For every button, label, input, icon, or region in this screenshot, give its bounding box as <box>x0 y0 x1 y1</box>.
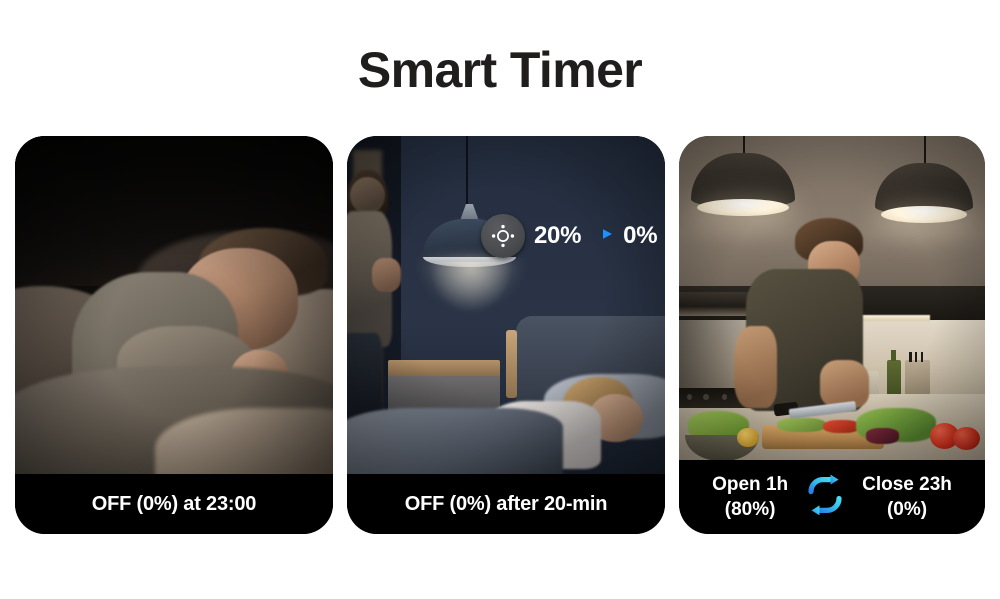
feature-card-cycle-timer[interactable]: Open 1h (80%) <box>679 136 985 534</box>
brightness-dial-icon <box>481 214 525 258</box>
caption-text-countdown-off: OFF (0%) after 20-min <box>405 493 608 516</box>
cycle-close-duration: Close 23h <box>862 472 952 497</box>
cycle-open-duration: Open 1h <box>712 472 788 497</box>
cycle-close-label: Close 23h (0%) <box>862 472 952 522</box>
kitchen-cooking-photo <box>679 136 985 476</box>
feature-card-countdown-off[interactable]: 20% 0% OFF (0%) after 20-min <box>347 136 665 534</box>
page-title: Smart Timer <box>0 40 1000 100</box>
feature-card-scheduled-off[interactable]: OFF (0%) at 23:00 <box>15 136 333 534</box>
kids-bedroom-lamp-photo <box>347 136 665 476</box>
feature-card-row: OFF (0%) at 23:00 <box>15 136 985 534</box>
cycle-open-label: Open 1h (80%) <box>712 472 788 522</box>
brightness-from-value: 20% <box>534 222 581 250</box>
cycle-open-brightness: (80%) <box>712 497 788 522</box>
arrow-right-icon <box>590 225 614 248</box>
brightness-to-value: 0% <box>623 222 657 250</box>
brightness-transition-badge: 20% 0% <box>481 214 657 258</box>
bedroom-night-photo <box>15 136 333 476</box>
card-caption-bar: OFF (0%) after 20-min <box>347 474 665 534</box>
loop-repeat-icon <box>802 474 848 521</box>
caption-text-scheduled-off: OFF (0%) at 23:00 <box>92 493 256 516</box>
card-caption-bar: OFF (0%) at 23:00 <box>15 474 333 534</box>
card-caption-bar: Open 1h (80%) <box>679 460 985 534</box>
cycle-close-brightness: (0%) <box>862 497 952 522</box>
